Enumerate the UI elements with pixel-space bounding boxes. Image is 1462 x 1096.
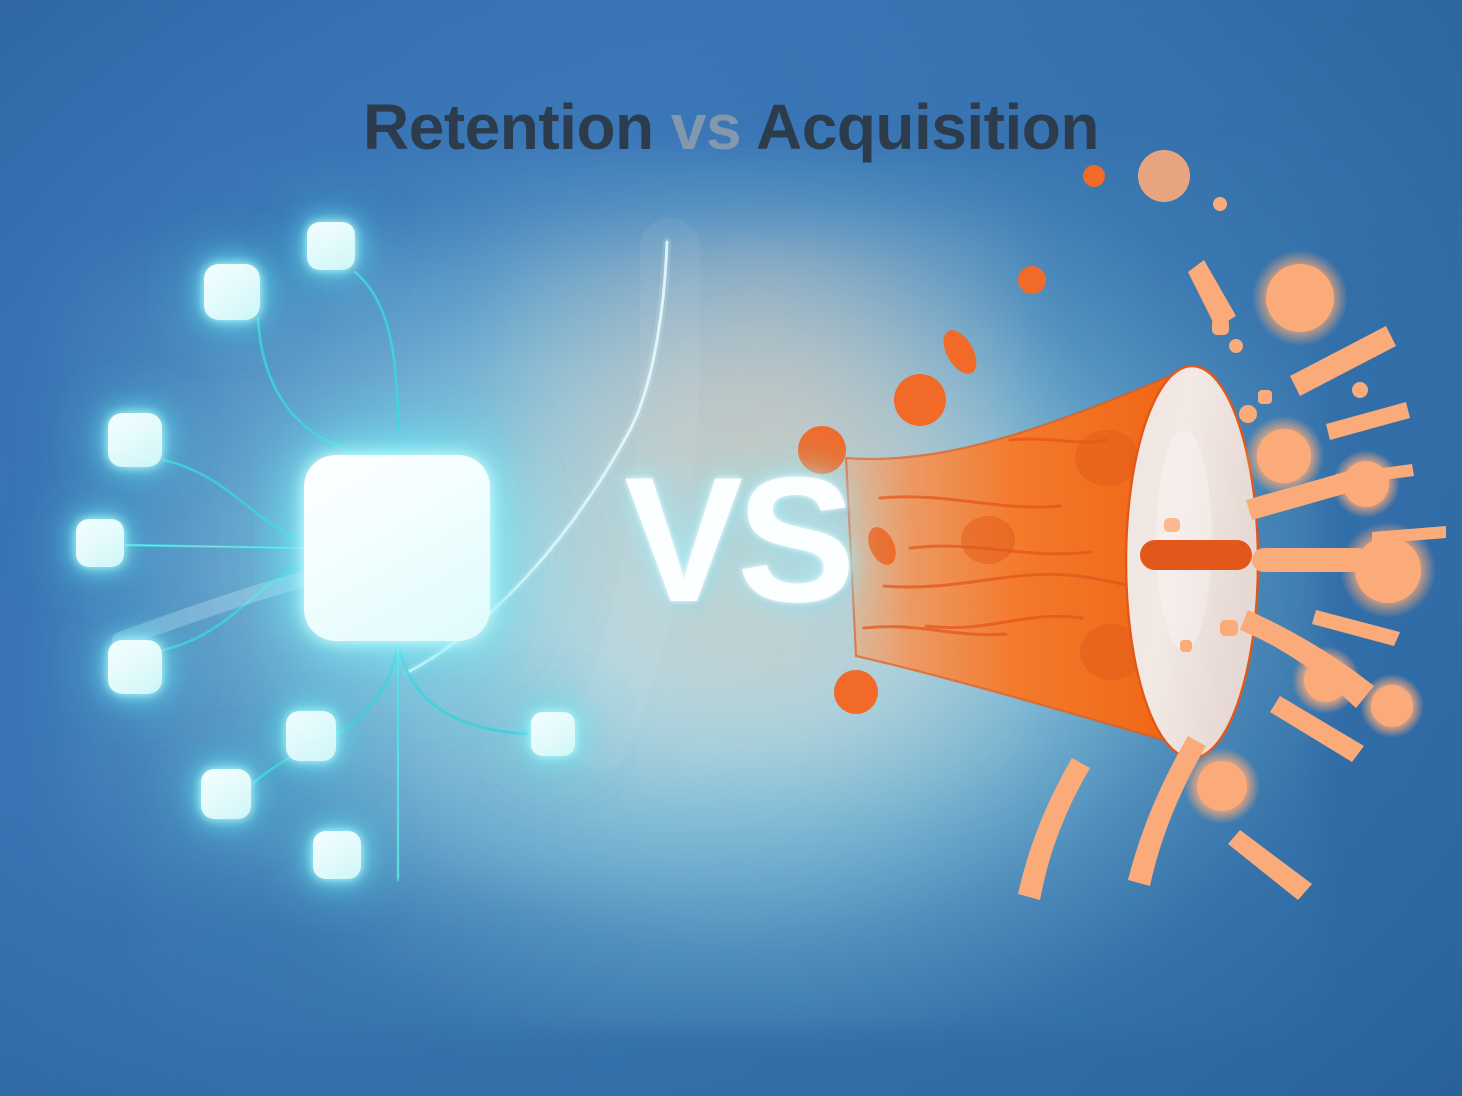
poster-canvas: Retention vs Acquisition VS	[0, 0, 1462, 1096]
satellite-node-right-lower[interactable]	[531, 712, 575, 756]
satellite-node-left-lower[interactable]	[108, 640, 162, 694]
title-separator-vs: vs	[671, 91, 741, 163]
page-title: Retention vs Acquisition	[0, 90, 1462, 164]
title-word-acquisition: Acquisition	[756, 91, 1099, 163]
satellite-node-top-2[interactable]	[204, 264, 260, 320]
satellite-node-bottom-3[interactable]	[313, 831, 361, 879]
satellite-node-bottom-2[interactable]	[201, 769, 251, 819]
versus-label: VS	[624, 451, 849, 629]
satellite-node-top-1[interactable]	[307, 222, 355, 270]
versus-badge: VS	[577, 440, 897, 640]
satellite-node-left-upper[interactable]	[108, 413, 162, 467]
central-node[interactable]	[304, 455, 490, 641]
title-word-retention: Retention	[363, 91, 654, 163]
satellite-node-left-mid[interactable]	[76, 519, 124, 567]
satellite-node-bottom-1[interactable]	[286, 711, 336, 761]
megaphone-handle	[1140, 540, 1252, 570]
